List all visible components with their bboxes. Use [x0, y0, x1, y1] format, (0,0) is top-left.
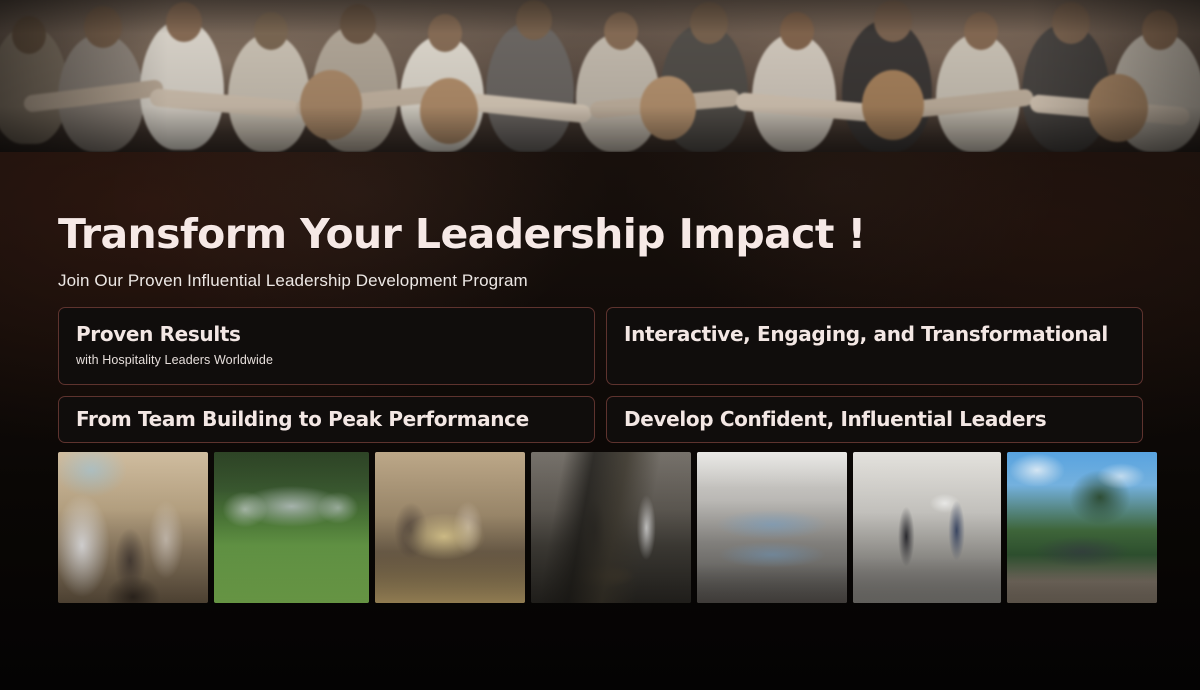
thumbnail-overlay — [58, 452, 208, 603]
gallery-thumbnail-workshop[interactable] — [58, 452, 208, 603]
hero-banner-image — [0, 0, 1200, 152]
feature-cell: From Team Building to Peak Performance — [58, 396, 606, 443]
page-subtitle: Join Our Proven Influential Leadership D… — [58, 271, 528, 291]
thumbnail-overlay — [214, 452, 369, 603]
feature-title: Develop Confident, Influential Leaders — [624, 408, 1125, 430]
feature-box-interactive-engaging[interactable]: Interactive, Engaging, and Transformatio… — [606, 307, 1143, 385]
page-title: Transform Your Leadership Impact ! — [58, 210, 866, 258]
thumbnail-overlay — [531, 452, 691, 603]
thumbnail-overlay — [375, 452, 525, 603]
feature-cell: Develop Confident, Influential Leaders — [606, 396, 1143, 443]
gallery-thumbnail-certificates[interactable] — [697, 452, 847, 603]
feature-title: Interactive, Engaging, and Transformatio… — [624, 323, 1125, 345]
photo-gallery — [58, 452, 1157, 603]
gallery-thumbnail-outdoor-deck[interactable] — [1007, 452, 1157, 603]
thumbnail-overlay — [697, 452, 847, 603]
feature-cell: Proven Results with Hospitality Leaders … — [58, 307, 606, 385]
thumbnail-overlay — [853, 452, 1001, 603]
feature-title: Proven Results — [76, 323, 577, 345]
feature-grid: Proven Results with Hospitality Leaders … — [58, 307, 1143, 443]
hero-vignette — [0, 0, 1200, 152]
gallery-thumbnail-banquet-table[interactable] — [375, 452, 525, 603]
leadership-program-banner: Transform Your Leadership Impact ! Join … — [0, 0, 1200, 690]
gallery-thumbnail-firewalk[interactable] — [531, 452, 691, 603]
feature-box-proven-results[interactable]: Proven Results with Hospitality Leaders … — [58, 307, 595, 385]
gallery-thumbnail-outdoor-group[interactable] — [214, 452, 369, 603]
feature-subtitle: with Hospitality Leaders Worldwide — [76, 353, 577, 367]
gallery-thumbnail-office-training[interactable] — [853, 452, 1001, 603]
feature-title: From Team Building to Peak Performance — [76, 408, 577, 430]
hero-photo — [0, 0, 1200, 152]
feature-cell: Interactive, Engaging, and Transformatio… — [606, 307, 1143, 385]
content-area: Transform Your Leadership Impact ! Join … — [0, 152, 1200, 690]
thumbnail-overlay — [1007, 452, 1157, 603]
feature-box-team-building[interactable]: From Team Building to Peak Performance — [58, 396, 595, 443]
feature-box-confident-leaders[interactable]: Develop Confident, Influential Leaders — [606, 396, 1143, 443]
